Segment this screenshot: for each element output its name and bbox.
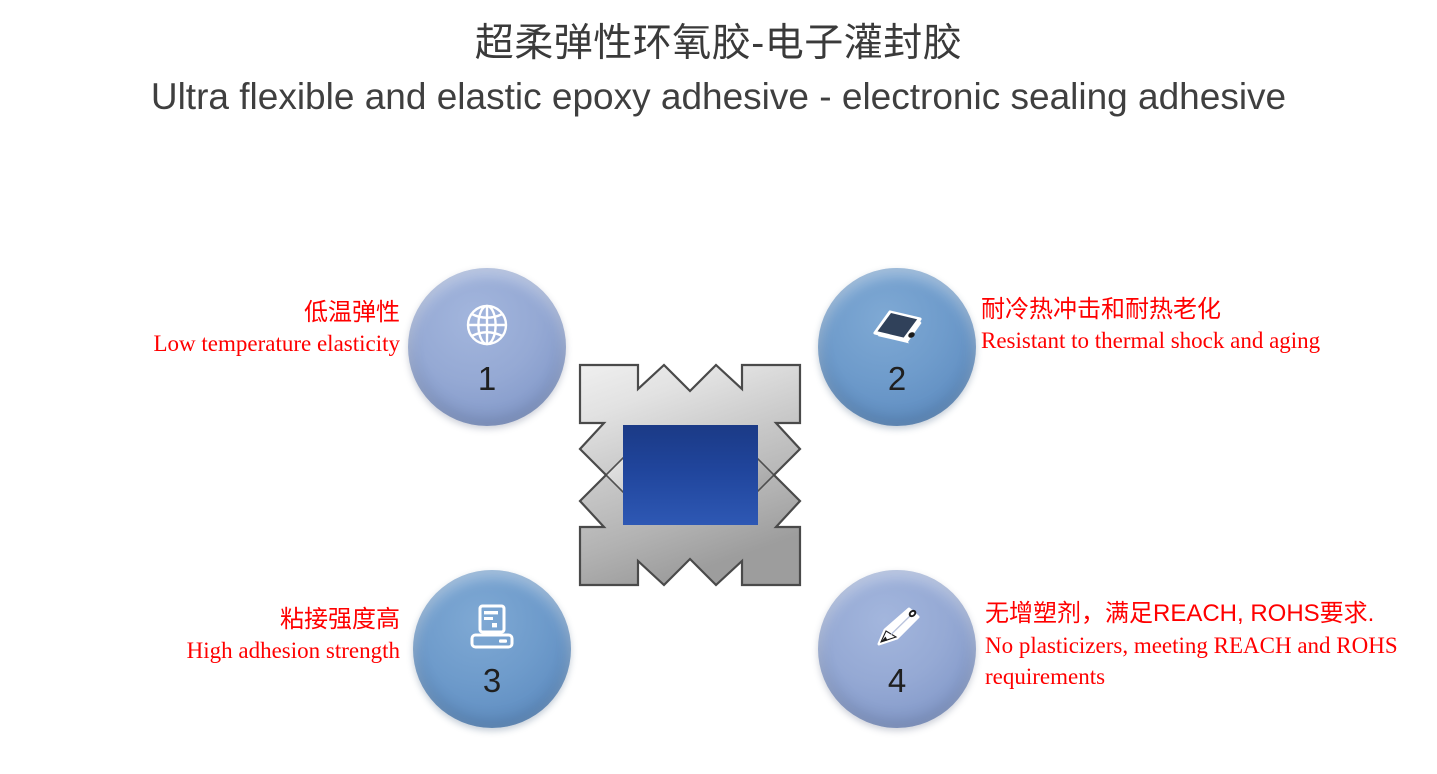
page-title: 超柔弹性环氧胶-电子灌封胶 Ultra flexible and elastic… [60, 18, 1377, 124]
computer-icon [413, 594, 571, 660]
feature-label-3-chinese: 粘接强度高 [90, 604, 400, 636]
feature-circle-2[interactable]: 2 [818, 268, 976, 426]
feature-label-2-english: Resistant to thermal shock and aging [981, 326, 1401, 356]
feature-label-1-english: Low temperature elasticity [60, 329, 400, 359]
feature-label-2-chinese: 耐冷热冲击和耐热老化 [981, 294, 1401, 326]
epoxy-pour-photo [623, 425, 758, 525]
feature-circle-4[interactable]: 4 [818, 570, 976, 728]
feature-label-1: 低温弹性 Low temperature elasticity [60, 297, 400, 359]
feature-number-3: 3 [413, 662, 571, 700]
book-icon [818, 292, 976, 358]
photo-background [623, 425, 758, 525]
page-title-chinese: 超柔弹性环氧胶-电子灌封胶 [60, 18, 1377, 70]
feature-label-3-english: High adhesion strength [90, 636, 400, 666]
feature-label-4: 无增塑剂，满足REACH, ROHS要求. No plasticizers, m… [985, 598, 1415, 692]
feature-label-2: 耐冷热冲击和耐热老化 Resistant to thermal shock an… [981, 294, 1401, 356]
slide-canvas: 超柔弹性环氧胶-电子灌封胶 Ultra flexible and elastic… [0, 0, 1437, 774]
feature-label-4-chinese: 无增塑剂，满足REACH, ROHS要求. [985, 598, 1415, 630]
feature-number-4: 4 [818, 662, 976, 700]
feature-label-1-chinese: 低温弹性 [60, 297, 400, 329]
feature-label-3: 粘接强度高 High adhesion strength [90, 604, 400, 666]
feature-number-1: 1 [408, 360, 566, 398]
page-title-english: Ultra flexible and elastic epoxy adhesiv… [60, 70, 1377, 124]
feature-number-2: 2 [818, 360, 976, 398]
pencil-icon [818, 594, 976, 660]
globe-icon [408, 292, 566, 358]
feature-circle-3[interactable]: 3 [413, 570, 571, 728]
feature-circle-1[interactable]: 1 [408, 268, 566, 426]
feature-label-4-english: No plasticizers, meeting REACH and ROHS … [985, 630, 1415, 692]
four-way-arrow-graphic [578, 363, 802, 587]
